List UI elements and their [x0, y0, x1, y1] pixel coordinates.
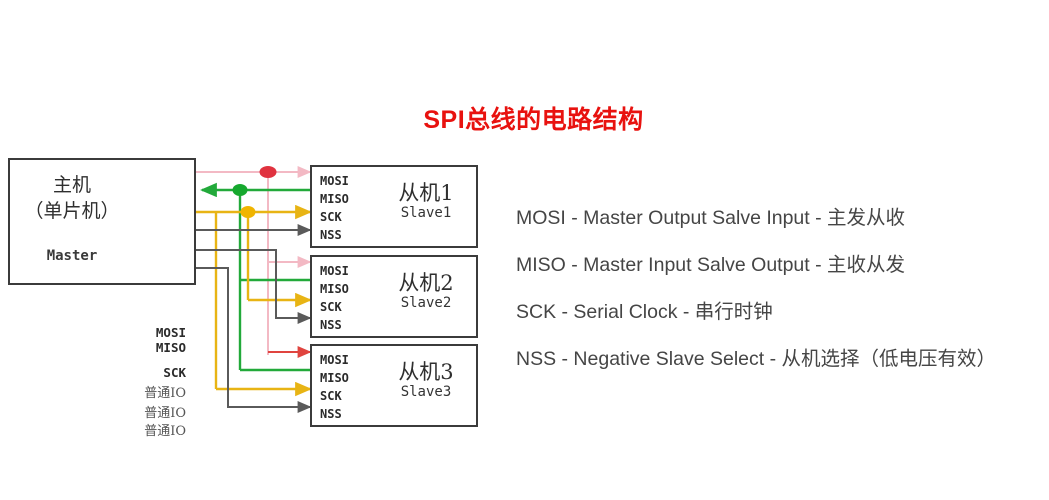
master-pin-gpio-2: 普通IO	[144, 402, 186, 421]
legend-item-mosi: MOSI - Master Output Salve Input - 主发从收	[516, 204, 1036, 251]
legend-item-sck: SCK - Serial Clock - 串行时钟	[516, 298, 1036, 345]
wire-sck	[196, 206, 310, 389]
slave3-name-en: Slave3	[374, 384, 478, 400]
slave-block-3: MOSI MISO SCK NSS 从机3 Slave3	[310, 344, 478, 427]
slave2-pin-sck: SCK	[320, 300, 342, 314]
junction-dot-sck	[241, 206, 256, 218]
slave3-name-cn: 从机3	[374, 356, 478, 386]
slave2-name-cn: 从机2	[374, 267, 478, 297]
slave1-name-cn: 从机1	[374, 177, 478, 207]
master-title-line1: 主机	[10, 172, 134, 198]
master-subtitle: Master	[10, 248, 134, 264]
master-pin-sck: SCK	[163, 365, 186, 380]
wire-nss	[196, 230, 310, 407]
slave3-pin-miso: MISO	[320, 371, 349, 385]
slave1-name-en: Slave1	[374, 205, 478, 221]
wire-mosi	[196, 166, 310, 355]
slave1-pin-miso: MISO	[320, 192, 349, 206]
junction-dot-mosi	[260, 166, 277, 178]
slave2-name-en: Slave2	[374, 295, 478, 311]
slave1-pin-mosi: MOSI	[320, 174, 349, 188]
slave3-pin-nss: NSS	[320, 407, 342, 421]
legend-item-nss: NSS - Negative Slave Select - 从机选择（低电压有效…	[516, 345, 1036, 392]
master-pin-gpio-1: 普通IO	[144, 382, 186, 401]
master-block: 主机 （单片机） Master MOSI MISO SCK 普通IO 普通IO …	[8, 158, 196, 285]
legend-item-miso: MISO - Master Input Salve Output - 主收从发	[516, 251, 1036, 298]
master-pin-miso: MISO	[156, 340, 186, 355]
slave3-pin-sck: SCK	[320, 389, 342, 403]
master-pin-mosi: MOSI	[156, 325, 186, 340]
slave2-pin-mosi: MOSI	[320, 264, 349, 278]
master-title: 主机 （单片机）	[10, 172, 134, 224]
master-pin-gpio-3: 普通IO	[144, 420, 186, 439]
slave1-pin-nss: NSS	[320, 228, 342, 242]
slave-block-2: MOSI MISO SCK NSS 从机2 Slave2	[310, 255, 478, 338]
junction-dot-miso	[233, 184, 248, 196]
slave1-pin-sck: SCK	[320, 210, 342, 224]
slave3-pin-mosi: MOSI	[320, 353, 349, 367]
slave-block-1: MOSI MISO SCK NSS 从机1 Slave1	[310, 165, 478, 248]
slave2-pin-nss: NSS	[320, 318, 342, 332]
slave2-pin-miso: MISO	[320, 282, 349, 296]
master-title-line2: （单片机）	[10, 198, 134, 224]
signal-legend: MOSI - Master Output Salve Input - 主发从收 …	[516, 204, 1036, 392]
